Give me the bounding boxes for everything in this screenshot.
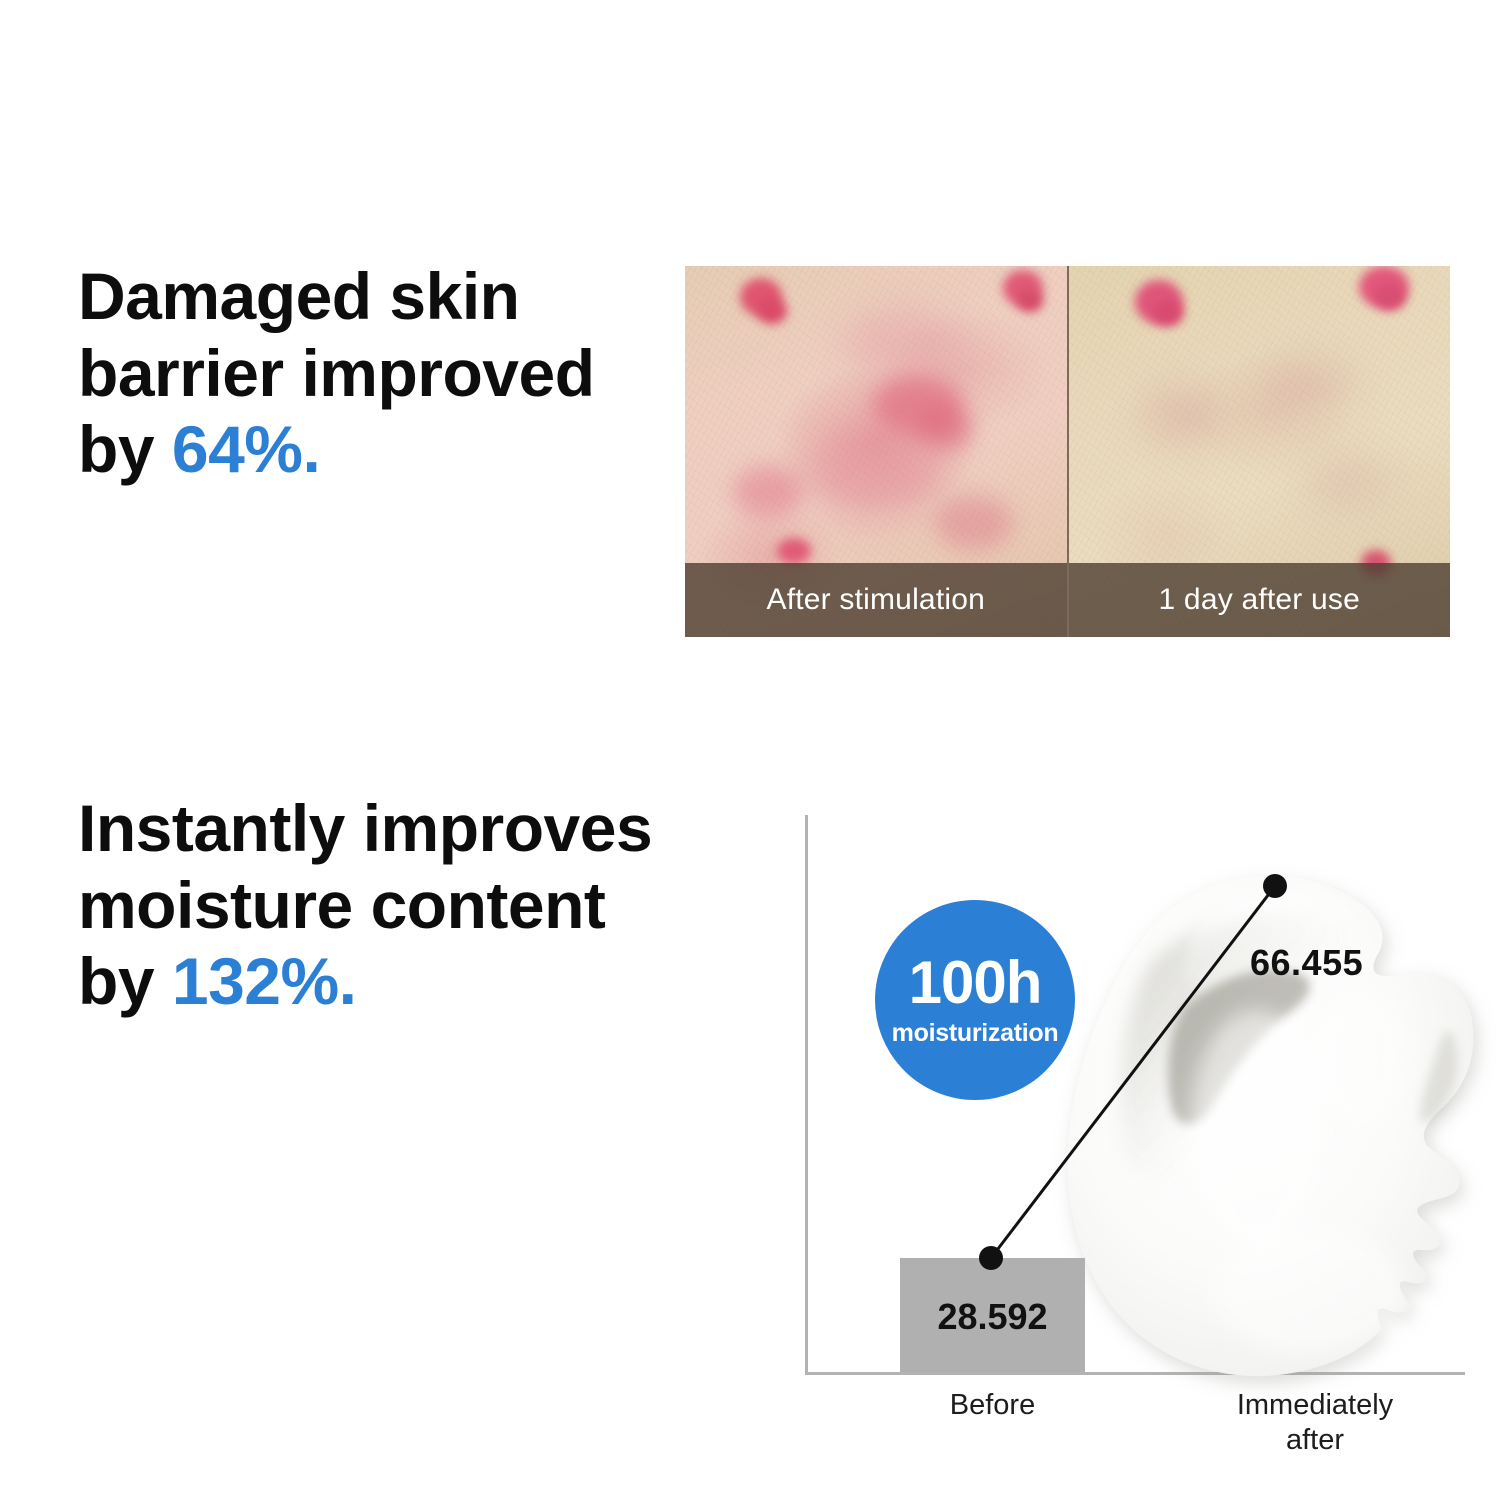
headline-line-1: Damaged skin (78, 258, 698, 335)
chart-y-axis (805, 815, 808, 1375)
irritation-patch (733, 466, 803, 518)
irritation-patch (845, 310, 965, 380)
headline-line-2: barrier improved (78, 335, 698, 412)
headline-moisture-content: Instantly improves moisture content by 1… (78, 790, 758, 1020)
headline-line-3: by 132%. (78, 943, 758, 1020)
irritation-patch (805, 426, 945, 522)
irritation-spot (1375, 284, 1405, 310)
headline-line-2: moisture content (78, 867, 758, 944)
cream-gloss-spot (1190, 1010, 1322, 1250)
residual-patch (1143, 386, 1221, 444)
chart-value-label-after: 66.455 (1250, 942, 1363, 984)
chart-x-label-after-line1: Immediately (1165, 1388, 1465, 1423)
badge-hours-label: 100h (909, 953, 1042, 1013)
badge-subtitle-label: moisturization (892, 1019, 1059, 1048)
photo-one-day-after-use: 1 day after use (1067, 266, 1451, 637)
headline-accent-value: 132%. (172, 944, 357, 1018)
chart-bar-before: 28.592 (900, 1258, 1085, 1372)
irritation-spot (1153, 300, 1183, 326)
irritation-spot (1017, 290, 1043, 312)
headline-line-3: by 64%. (78, 411, 698, 488)
headline-accent-value: 64%. (172, 412, 320, 486)
photo-caption-after: 1 day after use (1069, 563, 1451, 637)
chart-x-label-after: Immediately after (1165, 1388, 1465, 1459)
chart-value-label-before: 28.592 (900, 1296, 1085, 1338)
cream-swatch-image (1060, 862, 1490, 1382)
photo-after-stimulation: After stimulation (685, 266, 1067, 637)
residual-patch (1305, 452, 1389, 508)
headline-prefix: by (78, 944, 172, 1018)
headline-skin-barrier: Damaged skin barrier improved by 64%. (78, 258, 698, 488)
moisture-bar-chart: 66.455 28.592 100h moisturization Before… (780, 800, 1480, 1460)
photo-caption-before: After stimulation (685, 563, 1067, 637)
irritation-spot (777, 538, 811, 564)
headline-prefix: by (78, 412, 172, 486)
chart-x-label-before: Before (900, 1388, 1085, 1423)
irritation-spot (757, 298, 787, 324)
before-after-photo-panel: After stimulation 1 day after use (685, 266, 1450, 637)
headline-line-1: Instantly improves (78, 790, 758, 867)
residual-patch (1259, 356, 1355, 412)
badge-100h-moisturization: 100h moisturization (875, 900, 1075, 1100)
marketing-infographic: Damaged skin barrier improved by 64%. Af… (0, 0, 1500, 1500)
cream-gloss-spot (1214, 1230, 1406, 1354)
chart-x-label-after-line2: after (1165, 1423, 1465, 1458)
irritation-patch (935, 496, 1013, 550)
cream-gloss-spot (1316, 988, 1404, 1128)
